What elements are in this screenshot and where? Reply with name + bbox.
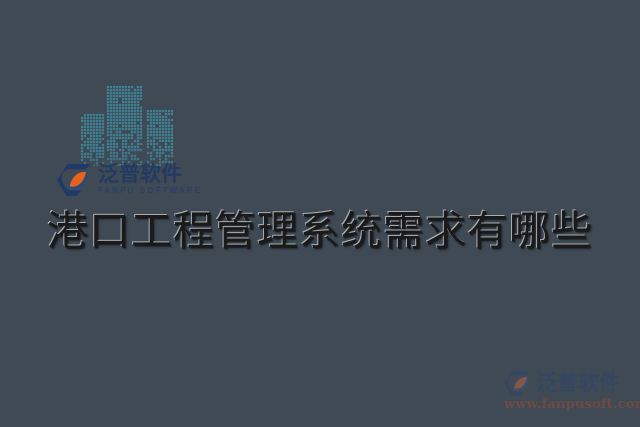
watermark-logo-mark [504, 371, 531, 396]
brand-name-en: FANPU SOFTWARE [98, 186, 202, 196]
pixel-building-skyline [81, 86, 173, 166]
watermark-brand-name: 泛普软件 [536, 372, 620, 395]
fanpu-logo-mark [57, 164, 91, 196]
watermark-url: www.fanpusoft.com [504, 397, 636, 412]
brand-wordmark: 泛普软件 FANPU SOFTWARE [98, 163, 202, 196]
brand-lockup: 泛普软件 FANPU SOFTWARE [57, 163, 202, 196]
watermark-brand-row: 泛普软件 [504, 371, 636, 396]
watermark: 泛普软件 www.fanpusoft.com [504, 371, 636, 412]
skyline-canvas [81, 86, 173, 166]
brand-name-cn: 泛普软件 [98, 163, 202, 185]
page-title: 港口工程管理系统需求有哪些 [0, 207, 640, 255]
promo-banner: 泛普软件 FANPU SOFTWARE 港口工程管理系统需求有哪些 泛普软件 w… [0, 0, 640, 427]
